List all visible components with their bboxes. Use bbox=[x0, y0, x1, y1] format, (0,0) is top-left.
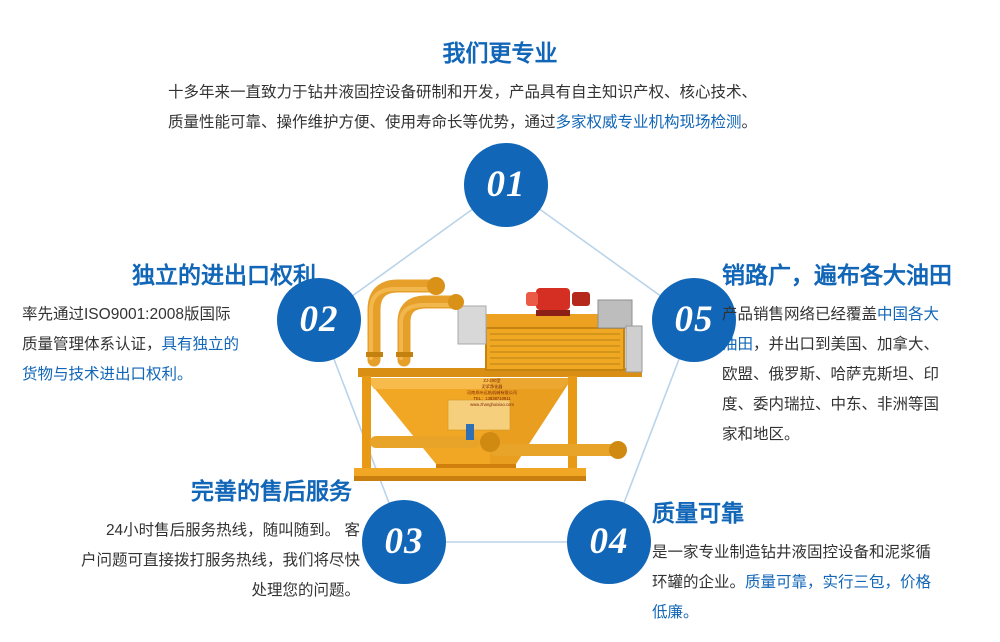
highlight-text: 中国各大 bbox=[877, 306, 939, 323]
plain-text: 欧盟、俄罗斯、哈萨克斯坦、印 bbox=[722, 366, 939, 383]
feature-block-02: 独立的进出口权利 率先通过ISO9001:2008版国际质量管理体系认证，具有独… bbox=[22, 262, 322, 390]
plain-text: 十多年来一直致力于钻井液固控设备研制和开发，产品具有自主知识产权、核心技术、 bbox=[168, 84, 757, 101]
feature-body-04: 是一家专业制造钻井液固控设备和泥浆循环罐的企业。质量可靠，实行三包，价格低廉。 bbox=[652, 538, 988, 628]
plain-text: 处理您的问题。 bbox=[251, 582, 360, 599]
text-line: 产品销售网络已经覆盖中国各大 bbox=[722, 300, 992, 330]
plain-text: 家和地区。 bbox=[722, 426, 800, 443]
highlight-text: 货物与技术进出口权利。 bbox=[22, 366, 193, 383]
text-line: 户问题可直接拨打服务热线，我们将尽快 bbox=[20, 546, 360, 576]
step-number-03: 03 bbox=[385, 520, 424, 563]
machine-illustration bbox=[340, 248, 660, 486]
text-line: 环罐的企业。质量可靠，实行三包，价格 bbox=[652, 568, 988, 598]
highlight-text: 具有独立的 bbox=[162, 336, 240, 353]
machine-nameplate: ZJ-200型 泥浆净化器 河南郑州远航机械有限公司 TEL：138387109… bbox=[452, 378, 532, 408]
plain-text: 是一家专业制造钻井液固控设备和泥浆循 bbox=[652, 544, 931, 561]
text-line: 油田，并出口到美国、加拿大、 bbox=[722, 330, 992, 360]
step-number-01: 01 bbox=[487, 163, 526, 206]
step-circle-04[interactable]: 04 bbox=[567, 500, 651, 584]
plain-text: ，并出口到美国、加拿大、 bbox=[753, 336, 939, 353]
text-line: 家和地区。 bbox=[722, 420, 992, 450]
feature-title-03: 完善的售后服务 bbox=[20, 478, 360, 506]
step-number-04: 04 bbox=[590, 520, 629, 563]
text-line: 欧盟、俄罗斯、哈萨克斯坦、印 bbox=[722, 360, 992, 390]
highlight-text: 多家权威专业机构现场检测 bbox=[556, 114, 742, 131]
plain-text: 户问题可直接拨打服务热线，我们将尽快 bbox=[81, 552, 360, 569]
feature-title-05: 销路广，遍布各大油田 bbox=[722, 262, 992, 290]
plain-text: 24小时售后服务热线，随叫随到。 客 bbox=[106, 522, 360, 539]
feature-body-02: 率先通过ISO9001:2008版国际质量管理体系认证，具有独立的货物与技术进出… bbox=[22, 300, 322, 390]
text-line: 24小时售后服务热线，随叫随到。 客 bbox=[20, 516, 360, 546]
plain-text: 质量性能可靠、操作维护方便、使用寿命长等优势，通过 bbox=[168, 114, 556, 131]
highlight-text: 油田 bbox=[722, 336, 753, 353]
plain-text: 质量管理体系认证， bbox=[22, 336, 162, 353]
text-line: 货物与技术进出口权利。 bbox=[22, 360, 322, 390]
text-line: 低廉。 bbox=[652, 598, 988, 628]
text-line: 率先通过ISO9001:2008版国际 bbox=[22, 300, 322, 330]
text-line: 是一家专业制造钻井液固控设备和泥浆循 bbox=[652, 538, 988, 568]
feature-title-02: 独立的进出口权利 bbox=[22, 262, 322, 290]
plain-text: 环罐的企业。 bbox=[652, 574, 745, 591]
plain-text: 度、委内瑞拉、中东、非洲等国 bbox=[722, 396, 939, 413]
highlight-text: 低廉。 bbox=[652, 604, 699, 621]
text-line: 十多年来一直致力于钻井液固控设备研制和开发，产品具有自主知识产权、核心技术、 bbox=[168, 78, 860, 108]
feature-body-01: 十多年来一直致力于钻井液固控设备研制和开发，产品具有自主知识产权、核心技术、质量… bbox=[140, 78, 860, 138]
feature-block-01: 我们更专业 十多年来一直致力于钻井液固控设备研制和开发，产品具有自主知识产权、核… bbox=[140, 40, 860, 138]
step-number-05: 05 bbox=[675, 298, 714, 341]
text-line: 质量管理体系认证，具有独立的 bbox=[22, 330, 322, 360]
feature-title-01: 我们更专业 bbox=[140, 40, 860, 68]
text-line: 质量性能可靠、操作维护方便、使用寿命长等优势，通过多家权威专业机构现场检测。 bbox=[168, 108, 860, 138]
text-line: 处理您的问题。 bbox=[20, 576, 360, 606]
feature-title-04: 质量可靠 bbox=[652, 500, 988, 528]
plain-text: 。 bbox=[742, 114, 758, 131]
text-line: 度、委内瑞拉、中东、非洲等国 bbox=[722, 390, 992, 420]
step-circle-03[interactable]: 03 bbox=[362, 500, 446, 584]
step-circle-01[interactable]: 01 bbox=[464, 143, 548, 227]
feature-body-03: 24小时售后服务热线，随叫随到。 客户问题可直接拨打服务热线，我们将尽快处理您的… bbox=[20, 516, 360, 606]
feature-body-05: 产品销售网络已经覆盖中国各大油田，并出口到美国、加拿大、欧盟、俄罗斯、哈萨克斯坦… bbox=[722, 300, 992, 450]
feature-block-05: 销路广，遍布各大油田 产品销售网络已经覆盖中国各大油田，并出口到美国、加拿大、欧… bbox=[722, 262, 992, 450]
plain-text: 率先通过ISO9001:2008版国际 bbox=[22, 306, 230, 323]
feature-block-04: 质量可靠 是一家专业制造钻井液固控设备和泥浆循环罐的企业。质量可靠，实行三包，价… bbox=[652, 500, 988, 628]
highlight-text: 质量可靠，实行三包，价格 bbox=[745, 574, 931, 591]
feature-block-03: 完善的售后服务 24小时售后服务热线，随叫随到。 客户问题可直接拨打服务热线，我… bbox=[20, 478, 360, 606]
plain-text: 产品销售网络已经覆盖 bbox=[722, 306, 877, 323]
infographic-canvas: ZJ-200型 泥浆净化器 河南郑州远航机械有限公司 TEL：138387109… bbox=[0, 0, 1000, 642]
